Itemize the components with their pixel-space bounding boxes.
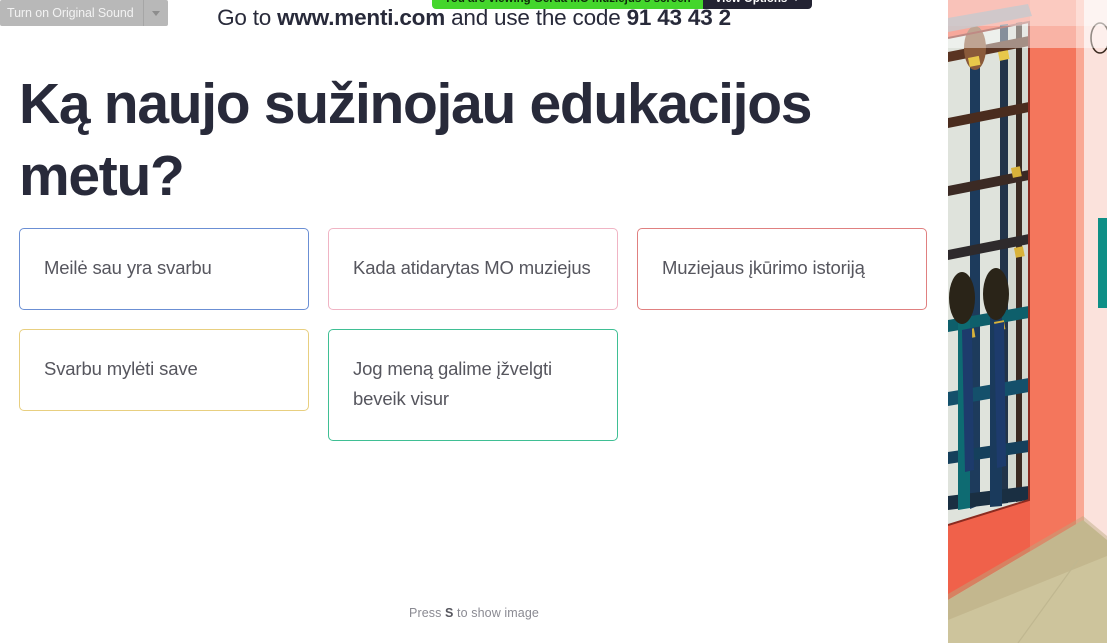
screen-share-banner: You are viewing Gerda MO muziejus's scre…	[432, 0, 812, 9]
original-sound-dropdown-button[interactable]	[143, 0, 168, 26]
mentimeter-slide: Go to www.menti.com and use the code 91 …	[0, 0, 948, 643]
answer-card: Jog meną galime įžvelgti beveik visur	[328, 329, 618, 441]
show-image-hint-prefix: Press	[409, 606, 445, 620]
show-image-hint: Press S to show image	[0, 606, 948, 620]
chevron-down-icon	[792, 0, 800, 1]
answer-card-text: Svarbu mylėti save	[44, 358, 198, 379]
answers-column-2: Kada atidarytas MO muziejus Jog meną gal…	[328, 228, 618, 441]
view-options-button[interactable]: View Options	[703, 0, 813, 9]
answer-card: Muziejaus įkūrimo istoriją	[637, 228, 927, 310]
answer-card-text: Meilė sau yra svarbu	[44, 257, 212, 278]
answer-card-text: Muziejaus įkūrimo istoriją	[662, 257, 865, 278]
view-options-label: View Options	[715, 0, 788, 5]
answer-card: Meilė sau yra svarbu	[19, 228, 309, 310]
answer-card-text: Kada atidarytas MO muziejus	[353, 257, 591, 278]
answers-column-3: Muziejaus įkūrimo istoriją	[637, 228, 927, 310]
screen-share-viewport: Go to www.menti.com and use the code 91 …	[0, 0, 1107, 643]
show-image-hint-suffix: to show image	[453, 606, 538, 620]
answer-card: Svarbu mylėti save	[19, 329, 309, 411]
original-sound-control[interactable]: Turn on Original Sound	[0, 0, 168, 26]
answers-grid: Meilė sau yra svarbu Svarbu mylėti save …	[19, 228, 929, 441]
answers-column-1: Meilė sau yra svarbu Svarbu mylėti save	[19, 228, 309, 411]
answer-card: Kada atidarytas MO muziejus	[328, 228, 618, 310]
artwork-photo-graphic	[948, 0, 1107, 643]
original-sound-label[interactable]: Turn on Original Sound	[0, 0, 143, 26]
artwork-photo	[948, 0, 1107, 643]
page-title: Ką naujo sužinojau edukacijos metu?	[19, 68, 849, 212]
share-banner-text: You are viewing Gerda MO muziejus's scre…	[432, 0, 703, 9]
menti-join-prefix: Go to	[217, 5, 277, 30]
answer-card-text: Jog meną galime įžvelgti beveik visur	[353, 358, 552, 409]
menti-url: www.menti.com	[277, 5, 445, 30]
chevron-down-icon	[152, 11, 160, 16]
